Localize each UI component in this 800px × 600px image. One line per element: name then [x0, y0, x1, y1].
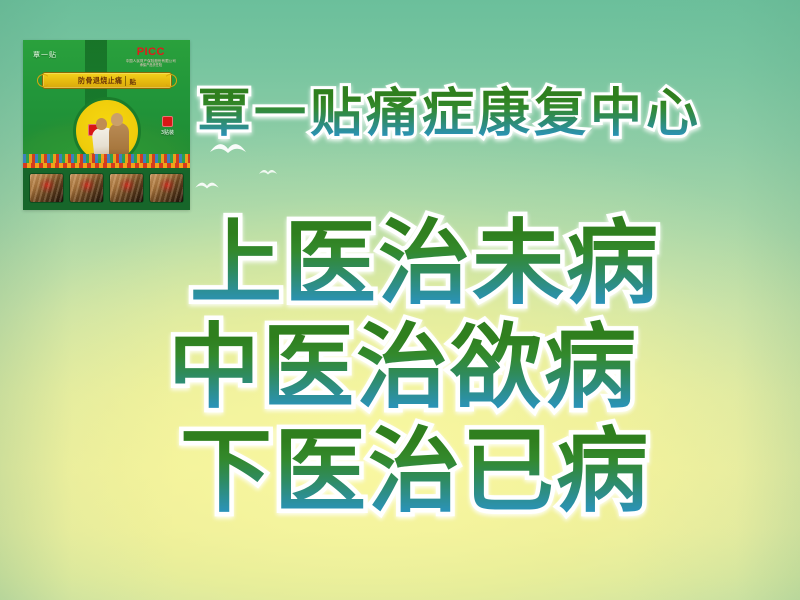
anatomy-thumbnail — [29, 173, 64, 203]
medallion-doctor-head — [111, 113, 123, 126]
bird-icon — [194, 180, 220, 193]
bird-icon — [258, 168, 278, 178]
package-quantity-seal: 3贴装 — [161, 116, 174, 136]
product-package-image: 覃一贴 PICC 中国人民财产保险股份有限公司 承保产品责任险 防骨退烧止痛 贴… — [23, 40, 190, 210]
medallion-patient-head — [96, 118, 107, 130]
package-thumbnail-strip — [29, 173, 184, 203]
headline-line-2-text: 中医治欲病 — [168, 314, 638, 421]
ribbon-text: 防骨退烧止痛 — [78, 75, 122, 86]
package-ribbon-banner: 防骨退烧止痛 贴 — [42, 72, 172, 89]
page-title: 覃一贴痛症康复中心 覃一贴痛症康复中心 — [198, 88, 702, 140]
anatomy-thumbnail — [149, 173, 184, 203]
ribbon-curl-right-icon — [164, 74, 177, 87]
anatomy-thumbnail — [69, 173, 104, 203]
page-title-text: 覃一贴痛症康复中心 — [198, 84, 702, 144]
picc-logo: PICC — [126, 47, 176, 58]
ribbon-tail-text: 贴 — [125, 76, 136, 86]
package-brand-mark: 覃一贴 — [33, 50, 57, 60]
anatomy-thumbnail — [109, 173, 144, 203]
headline-line-3-text: 下医治已病 — [180, 418, 650, 525]
headline-line-2: 中医治欲病 中医治欲病 — [168, 322, 638, 414]
headline-line-3: 下医治已病 下医治已病 — [180, 426, 650, 518]
ribbon-curl-left-icon — [37, 74, 50, 87]
insurer-sub-line-2: 承保产品责任险 — [126, 64, 176, 67]
headline-line-1: 上医治未病 上医治未病 — [190, 218, 660, 310]
insurer-logo-block: PICC 中国人民财产保险股份有限公司 承保产品责任险 — [126, 47, 176, 67]
headline-line-1-text: 上医治未病 — [190, 210, 660, 317]
slide-canvas: 覃一贴 PICC 中国人民财产保险股份有限公司 承保产品责任险 防骨退烧止痛 贴… — [0, 0, 800, 600]
seal-stamp-icon — [162, 116, 173, 127]
seal-caption: 3贴装 — [161, 129, 174, 136]
